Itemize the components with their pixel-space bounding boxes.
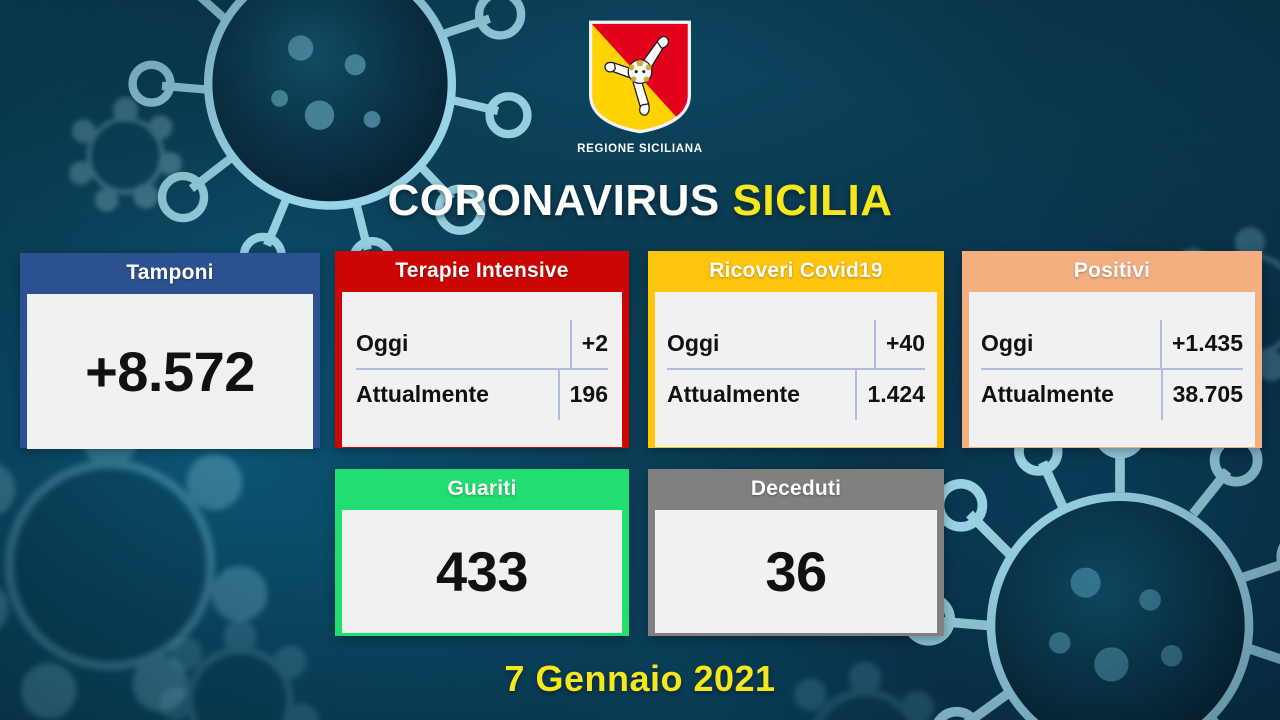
stat-table: Oggi +2 Attualmente 196: [342, 292, 622, 447]
table-row: Attualmente 196: [356, 370, 608, 420]
page-title-main: CORONAVIRUS: [388, 176, 720, 225]
table-row: Attualmente 38.705: [981, 370, 1243, 420]
infographic-canvas: REGIONE SICILIANA CORONAVIRUS SICILIA Ta…: [0, 0, 1280, 720]
row-value: +2: [582, 330, 608, 357]
table-row: Oggi +1.435: [981, 320, 1243, 370]
row-label: Oggi: [667, 330, 864, 357]
stat-table: Oggi +40 Attualmente 1.424: [655, 292, 937, 447]
stat-card-terapie-intensive[interactable]: Terapie Intensive Oggi +2 Attualmente 19…: [335, 251, 629, 448]
stat-card-tamponi-body: +8.572: [27, 294, 313, 449]
stat-card-guariti-body: 433: [342, 510, 622, 633]
region-crest-block: REGIONE SICILIANA: [0, 18, 1280, 155]
region-crest-caption: REGIONE SICILIANA: [577, 143, 703, 155]
stat-card-guariti-title: Guariti: [335, 469, 629, 510]
stat-card-deceduti[interactable]: Deceduti 36: [648, 469, 944, 636]
stat-card-ricoveri-body: Oggi +40 Attualmente 1.424: [655, 292, 937, 447]
table-row: Oggi +40: [667, 320, 925, 370]
column-divider: [570, 320, 572, 368]
row-value: +40: [886, 330, 925, 357]
row-value: 38.705: [1173, 381, 1243, 408]
row-label: Attualmente: [981, 381, 1151, 408]
stat-card-deceduti-value: 36: [765, 539, 826, 604]
stat-card-positivi[interactable]: Positivi Oggi +1.435 Attualmente 38.705: [962, 251, 1262, 448]
column-divider: [1160, 320, 1162, 368]
page-title-accent: SICILIA: [733, 176, 893, 225]
row-label: Attualmente: [356, 381, 548, 408]
row-label: Oggi: [981, 330, 1150, 357]
row-value: +1.435: [1172, 330, 1243, 357]
stat-card-ricoveri[interactable]: Ricoveri Covid19 Oggi +40 Attualmente 1.…: [648, 251, 944, 448]
row-value: 196: [570, 381, 608, 408]
row-value: 1.424: [867, 381, 925, 408]
table-row: Oggi +2: [356, 320, 608, 370]
row-label: Oggi: [356, 330, 560, 357]
page-title: CORONAVIRUS SICILIA: [0, 176, 1280, 226]
column-divider: [558, 370, 560, 420]
stat-table: Oggi +1.435 Attualmente 38.705: [969, 292, 1255, 447]
stat-card-positivi-body: Oggi +1.435 Attualmente 38.705: [969, 292, 1255, 447]
stat-card-tamponi-value: +8.572: [85, 339, 255, 404]
stat-card-tamponi-title: Tamponi: [20, 253, 320, 294]
stat-card-positivi-title: Positivi: [962, 251, 1262, 292]
sicilian-trinacria-crest-icon: [586, 18, 694, 136]
stat-card-guariti-value: 433: [436, 539, 528, 604]
stat-card-ricoveri-title: Ricoveri Covid19: [648, 251, 944, 292]
stat-card-deceduti-body: 36: [655, 510, 937, 633]
column-divider: [1161, 370, 1163, 420]
stat-card-terapie-intensive-body: Oggi +2 Attualmente 196: [342, 292, 622, 447]
table-row: Attualmente 1.424: [667, 370, 925, 420]
stat-card-terapie-intensive-title: Terapie Intensive: [335, 251, 629, 292]
stat-card-tamponi[interactable]: Tamponi +8.572: [20, 253, 320, 448]
stat-card-guariti[interactable]: Guariti 433: [335, 469, 629, 636]
column-divider: [855, 370, 857, 420]
report-date: 7 Gennaio 2021: [0, 658, 1280, 700]
row-label: Attualmente: [667, 381, 845, 408]
stat-card-deceduti-title: Deceduti: [648, 469, 944, 510]
column-divider: [874, 320, 876, 368]
